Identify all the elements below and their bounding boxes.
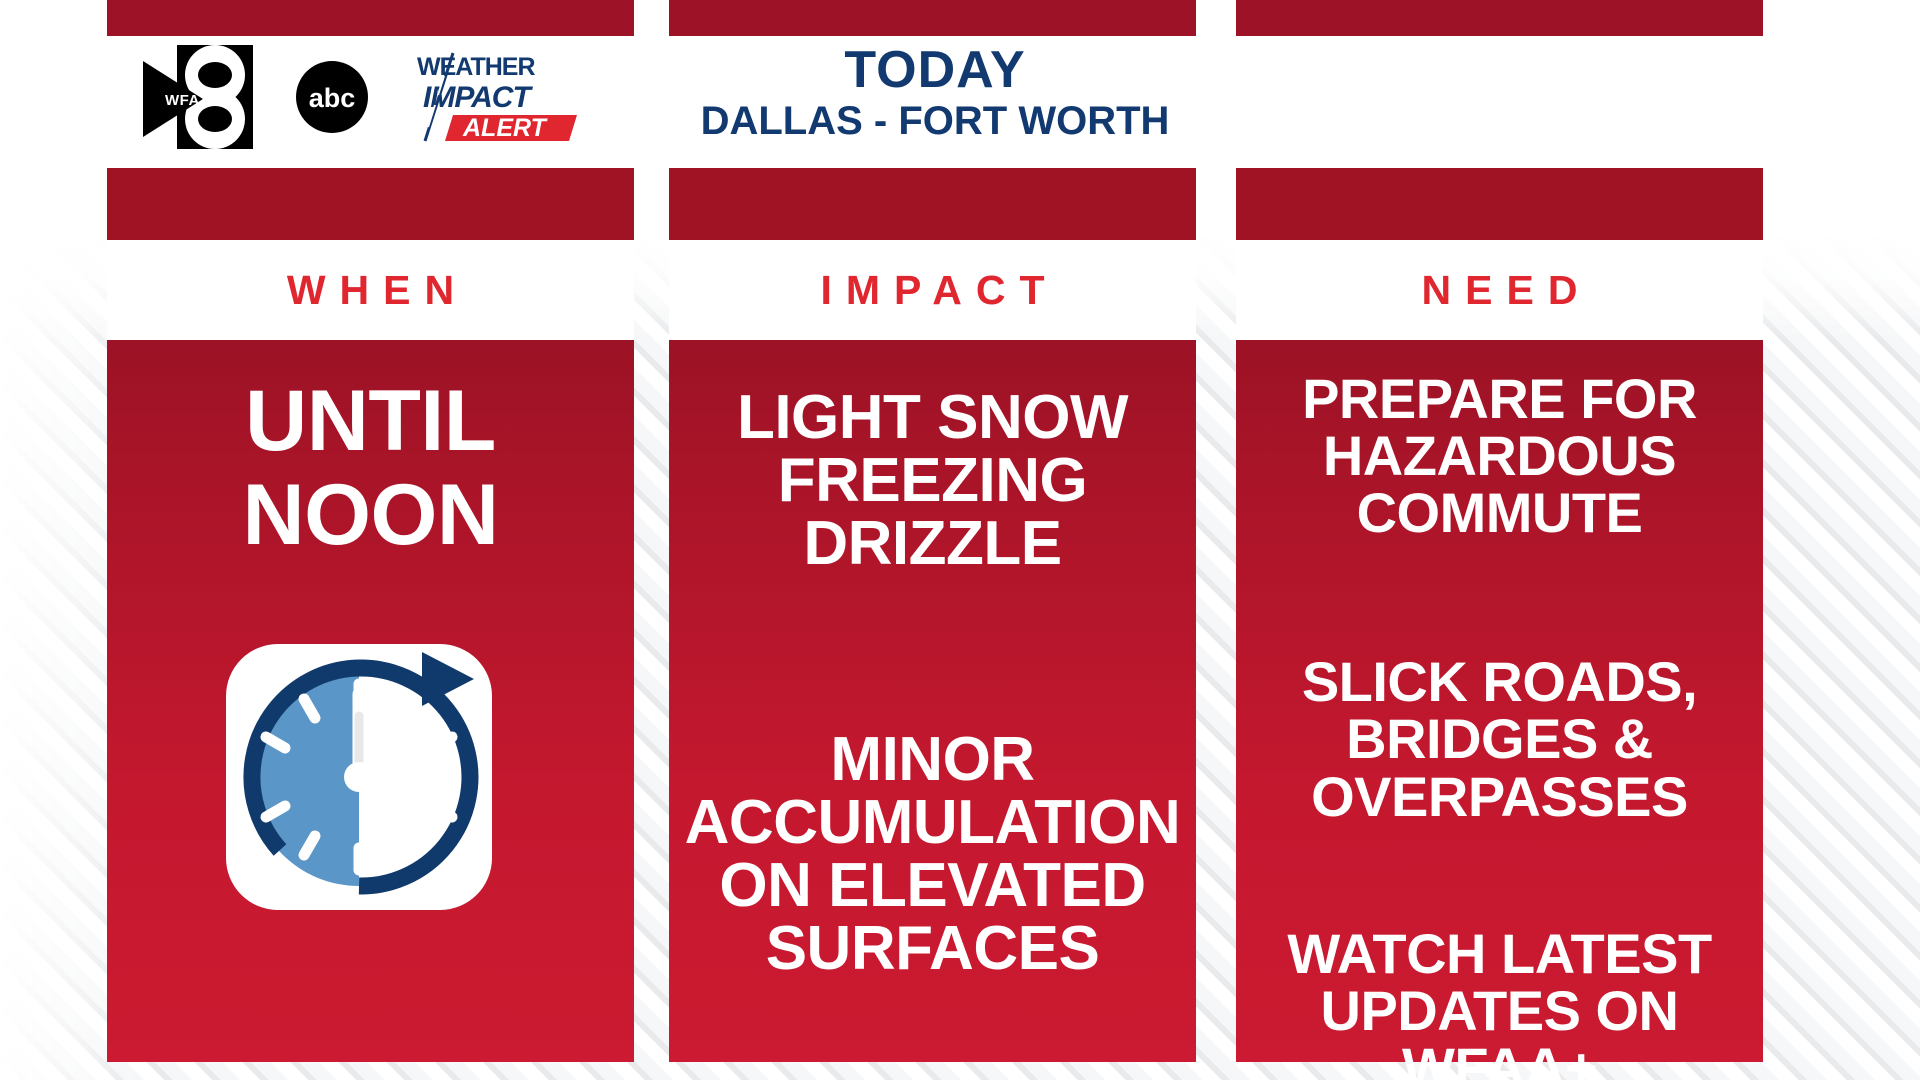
masthead-bar: WFAA abc WEATHER IMPACT ALERT bbox=[107, 36, 1763, 158]
when-line-1: UNTIL bbox=[107, 378, 634, 466]
need-block-2: SLICK ROADS,BRIDGES &OVERPASSES bbox=[1236, 653, 1763, 824]
need-block-1: PREPARE FORHAZARDOUSCOMMUTE bbox=[1236, 370, 1763, 541]
column-need-header: NEED bbox=[1236, 240, 1763, 340]
column-when-top-band bbox=[107, 0, 634, 36]
column-when-header: WHEN bbox=[107, 240, 634, 340]
masthead-day-label: TODAY bbox=[107, 44, 1763, 96]
clock-icon bbox=[226, 632, 516, 922]
column-when-heading-label: WHEN bbox=[273, 270, 468, 311]
column-impact-head-strip bbox=[669, 168, 1196, 240]
column-need-top-band bbox=[1236, 0, 1763, 36]
impact-block-1: LIGHT SNOWFREEZINGDRIZZLE bbox=[669, 386, 1196, 576]
masthead-title-group: TODAY DALLAS - FORT WORTH bbox=[107, 44, 1763, 144]
need-block-3: WATCH LATESTUPDATES ONWFAA+ bbox=[1236, 925, 1763, 1080]
column-when-body: UNTIL NOON bbox=[107, 340, 634, 1062]
masthead-region-label: DALLAS - FORT WORTH bbox=[107, 98, 1763, 144]
column-impact-header: IMPACT bbox=[669, 240, 1196, 340]
column-need-head-strip bbox=[1236, 168, 1763, 240]
column-when-head-strip bbox=[107, 168, 634, 240]
when-line-2: NOON bbox=[107, 472, 634, 560]
column-impact-top-band bbox=[669, 0, 1196, 36]
impact-block-2: MINORACCUMULATIONON ELEVATEDSURFACES bbox=[669, 728, 1196, 981]
column-need-heading-label: NEED bbox=[1408, 270, 1592, 311]
column-need-body: PREPARE FORHAZARDOUSCOMMUTE SLICK ROADS,… bbox=[1236, 340, 1763, 1062]
weather-impact-alert-graphic: WHEN UNTIL NOON bbox=[0, 0, 1920, 1080]
column-impact-heading-label: IMPACT bbox=[806, 270, 1058, 311]
clock-icon-svg bbox=[226, 632, 516, 922]
column-when: WHEN UNTIL NOON bbox=[107, 0, 634, 1080]
column-need: NEED PREPARE FORHAZARDOUSCOMMUTE SLICK R… bbox=[1236, 0, 1763, 1080]
column-impact-body: LIGHT SNOWFREEZINGDRIZZLE MINORACCUMULAT… bbox=[669, 340, 1196, 1062]
column-impact: IMPACT LIGHT SNOWFREEZINGDRIZZLE MINORAC… bbox=[669, 0, 1196, 1080]
